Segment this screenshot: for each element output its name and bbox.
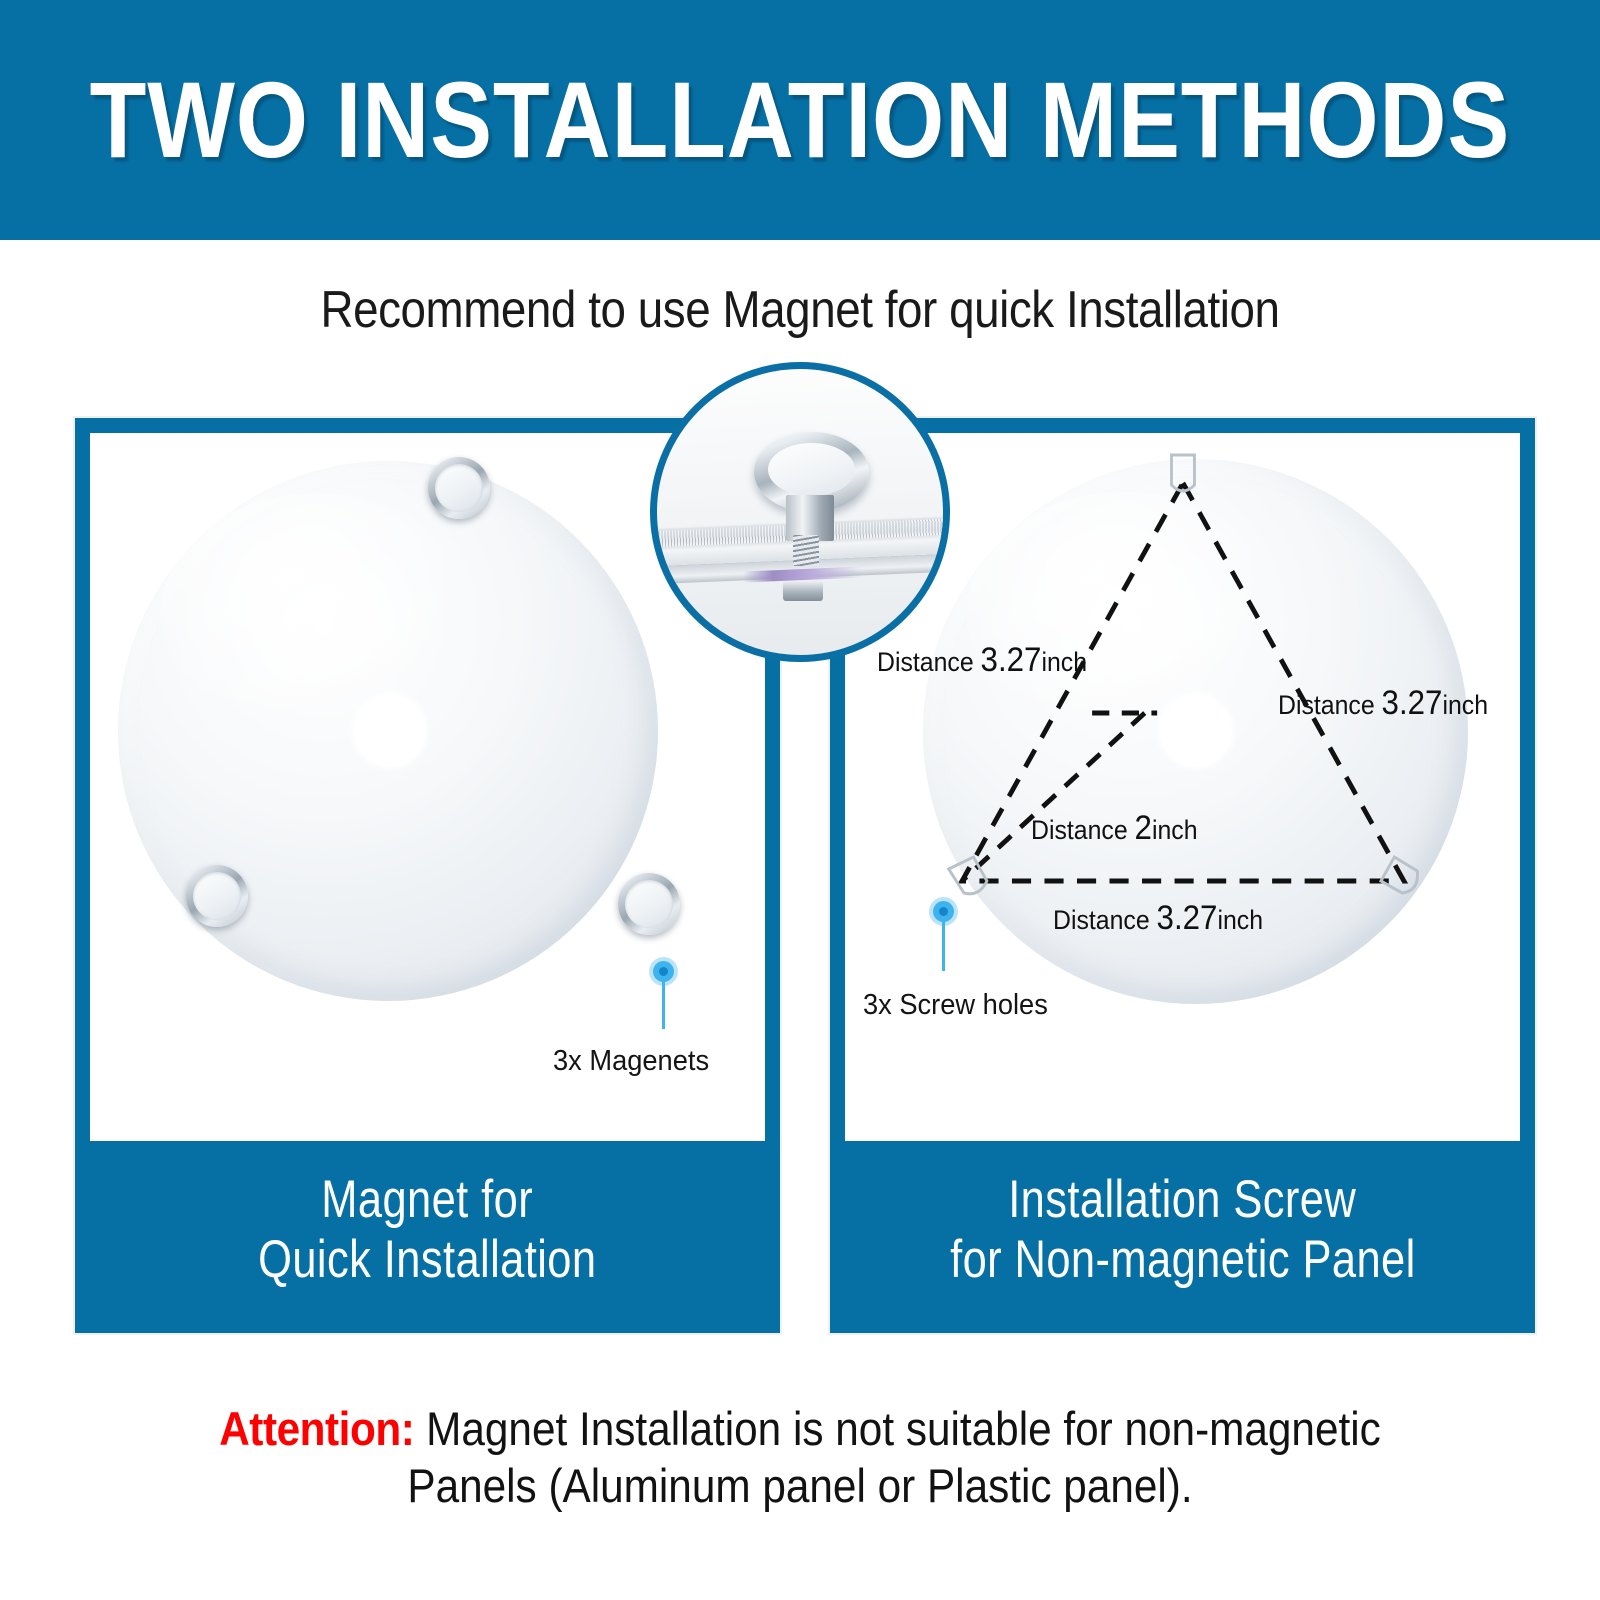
screw-plate-stage: Distance 3.27inch Distance 3.27inch Dist…	[853, 441, 1512, 1156]
dim-right-value: 3.27	[1382, 684, 1443, 722]
dim-left-suffix: inch	[1041, 647, 1087, 677]
magnets-callout-line	[662, 979, 665, 1029]
subtitle-recommendation: Recommend to use Magnet for quick Instal…	[96, 280, 1504, 340]
screw-holes-callout-label: 3x Screw holes	[863, 989, 1048, 1022]
screw-caption-line-1: Installation Screw	[1009, 1170, 1357, 1229]
magnets-callout-label: 3x Magenets	[553, 1045, 709, 1078]
magnet-panel-caption: Magnet for Quick Installation	[90, 1141, 765, 1318]
attention-text-1: Magnet Installation is not suitable for …	[414, 1402, 1380, 1455]
dim-bottom-suffix: inch	[1217, 905, 1263, 935]
plate-center-hole	[354, 695, 426, 767]
magnet-caption-line-2: Quick Installation	[258, 1230, 596, 1289]
dim-bottom-value: 3.27	[1157, 899, 1218, 937]
dimension-bottom-side: Distance 3.27inch	[1053, 899, 1263, 938]
magnet-puck-top	[428, 457, 490, 519]
screw-panel-caption: Installation Screw for Non-magnetic Pane…	[845, 1141, 1520, 1318]
magnet-puck-bottom-right	[618, 873, 680, 935]
attention-label: Attention:	[219, 1402, 414, 1455]
dim-bottom-prefix: Distance	[1053, 905, 1157, 935]
header-banner: TWO INSTALLATION METHODS	[0, 0, 1600, 240]
dim-center-suffix: inch	[1152, 815, 1198, 845]
screw-caption-line-2: for Non-magnetic Panel	[950, 1230, 1416, 1289]
dimension-center-radius: Distance 2inch	[1031, 809, 1198, 848]
magnet-closeup-inset	[650, 362, 950, 662]
dim-left-value: 3.27	[981, 641, 1042, 679]
magnet-caption-line-1: Magnet for	[322, 1170, 534, 1229]
dim-right-suffix: inch	[1442, 690, 1488, 720]
attention-note: Attention: Magnet Installation is not su…	[0, 1400, 1600, 1515]
attention-line-1: Attention: Magnet Installation is not su…	[134, 1400, 1466, 1457]
page-title: TWO INSTALLATION METHODS	[90, 66, 1511, 174]
attention-line-2: Panels (Aluminum panel or Plastic panel)…	[134, 1457, 1466, 1514]
dimension-right-side: Distance 3.27inch	[1278, 684, 1488, 723]
screw-holes-callout-line	[942, 919, 945, 971]
dimension-left-side: Distance 3.27inch	[877, 641, 1087, 680]
dim-center-value: 2	[1135, 809, 1152, 847]
dim-right-prefix: Distance	[1278, 690, 1382, 720]
dim-left-prefix: Distance	[877, 647, 981, 677]
magnet-puck-bottom-left	[186, 865, 248, 927]
screw-hole-triangle-diagram	[853, 441, 1512, 1156]
inset-magnet-stem	[786, 495, 835, 541]
dim-center-prefix: Distance	[1031, 815, 1135, 845]
inset-screw-thread-icon	[793, 535, 819, 566]
inset-screw-nut	[783, 581, 823, 601]
